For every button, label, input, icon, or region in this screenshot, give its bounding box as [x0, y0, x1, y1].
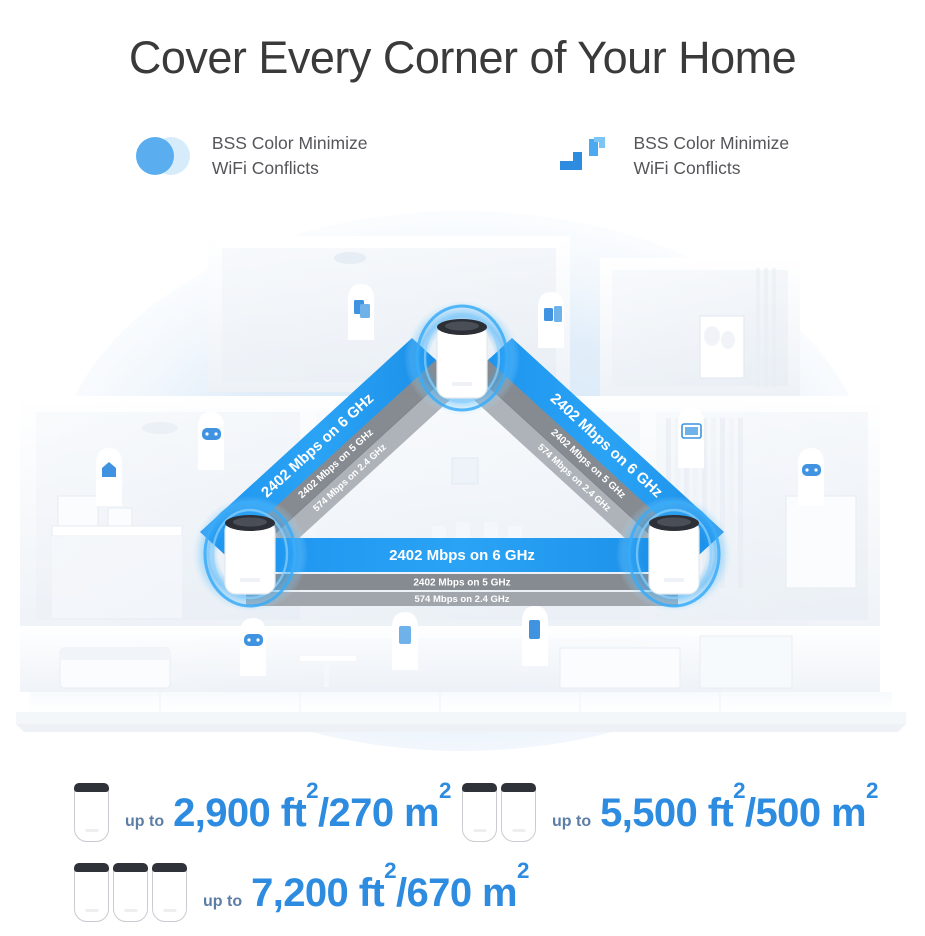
device-pin-smart-home	[96, 448, 122, 506]
feature-line-2: WiFi Conflicts	[634, 156, 790, 181]
router-unit-icon	[113, 864, 148, 922]
chevrons-svg	[558, 133, 612, 179]
device-pin-printer	[538, 292, 564, 348]
coverage-row-1-pack: up to 2,900 ft2/270 m2	[74, 784, 451, 842]
device-pin-monitor	[678, 408, 704, 468]
feature-callout-text: BSS Color Minimize WiFi Conflicts	[212, 131, 368, 181]
page-title: Cover Every Corner of Your Home	[0, 32, 925, 84]
mesh-router-node-right	[616, 496, 732, 612]
mesh-router-node-top	[404, 300, 520, 416]
coverage-area-list: up to 2,900 ft2/270 m2 up to 5,500 ft2/5…	[0, 778, 925, 936]
overlapping-circles-icon	[136, 133, 190, 179]
feature-callout-text: BSS Color Minimize WiFi Conflicts	[634, 131, 790, 181]
feature-line-1: BSS Color Minimize	[634, 131, 790, 156]
coverage-value: 5,500 ft2/500 m2	[600, 791, 878, 836]
mesh-link-bottom: 2402 Mbps on 6 GHz 2402 Mbps on 5 GHz 57…	[246, 538, 678, 606]
mesh-coverage-illustration: 2402 Mbps on 6 GHz 2402 Mbps on 5 GHz 57…	[0, 196, 925, 756]
ascending-chevrons-icon	[558, 133, 612, 179]
coverage-row-3-pack: up to 7,200 ft2/670 m2	[74, 864, 529, 922]
coverage-value: 2,900 ft2/270 m2	[173, 791, 451, 836]
router-unit-icon	[74, 864, 109, 922]
product-feature-page: Cover Every Corner of Your Home BSS Colo…	[0, 0, 925, 936]
feature-line-1: BSS Color Minimize	[212, 131, 368, 156]
band-label-24ghz-bottom: 574 Mbps on 2.4 GHz	[414, 594, 509, 605]
feature-callout-bss-chevrons: BSS Color Minimize WiFi Conflicts	[558, 131, 790, 181]
router-unit-group	[74, 784, 109, 842]
feature-callout-list: BSS Color Minimize WiFi Conflicts BSS Co…	[0, 131, 925, 181]
device-pin-gamepad-right	[798, 448, 824, 506]
router-unit-group	[462, 784, 536, 842]
device-pin-phone-center	[392, 612, 418, 670]
band-label-5ghz-bottom: 2402 Mbps on 5 GHz	[413, 578, 510, 589]
router-unit-icon	[462, 784, 497, 842]
coverage-row-2-pack: up to 5,500 ft2/500 m2	[462, 784, 878, 842]
device-pin-gamepad-bedroom	[240, 618, 266, 676]
coverage-text: up to 2,900 ft2/270 m2	[125, 791, 451, 836]
house-mesh-diagram: 2402 Mbps on 6 GHz 2402 Mbps on 5 GHz 57…	[0, 196, 925, 756]
coverage-text: up to 7,200 ft2/670 m2	[203, 871, 529, 916]
coverage-value: 7,200 ft2/670 m2	[251, 871, 529, 916]
router-unit-icon	[74, 784, 109, 842]
device-pin-phone-right	[522, 606, 548, 666]
router-unit-group	[74, 864, 187, 922]
band-label-6ghz-bottom: 2402 Mbps on 6 GHz	[389, 547, 535, 564]
router-unit-icon	[501, 784, 536, 842]
mesh-router-node-left	[192, 496, 308, 612]
coverage-text: up to 5,500 ft2/500 m2	[552, 791, 878, 836]
device-pin-gamepad-left	[198, 412, 224, 470]
device-pin-tablet	[348, 284, 374, 340]
feature-callout-bss-circles: BSS Color Minimize WiFi Conflicts	[136, 131, 368, 181]
router-unit-icon	[152, 864, 187, 922]
coverage-upto-label: up to	[552, 813, 591, 831]
coverage-upto-label: up to	[203, 893, 242, 911]
feature-line-2: WiFi Conflicts	[212, 156, 368, 181]
coverage-upto-label: up to	[125, 813, 164, 831]
